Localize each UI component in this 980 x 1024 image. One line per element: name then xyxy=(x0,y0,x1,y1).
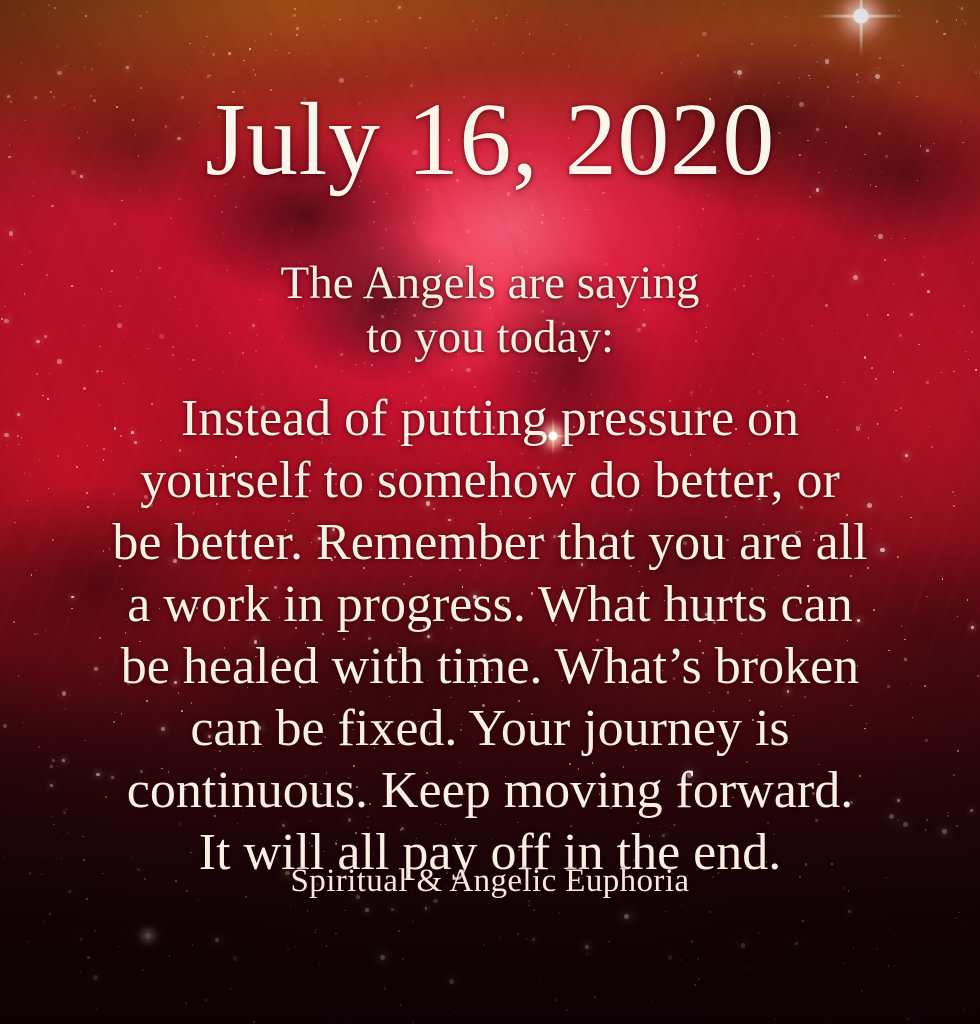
message-body-line: yourself to somehow do better, or xyxy=(0,450,980,512)
lead-text: The Angels are saying to you today: xyxy=(0,256,980,364)
angel-message-card: July 16, 2020 The Angels are saying to y… xyxy=(0,0,980,1024)
message-body-line: Instead of putting pressure on xyxy=(0,388,980,450)
message-content: July 16, 2020 The Angels are saying to y… xyxy=(0,0,980,1024)
message-body: Instead of putting pressure onyourself t… xyxy=(0,388,980,884)
signature-credit: Spiritual & Angelic Euphoria xyxy=(0,862,980,900)
message-body-line: can be fixed. Your journey is xyxy=(0,698,980,760)
page-title: July 16, 2020 xyxy=(0,88,980,192)
lead-line-1: The Angels are saying xyxy=(281,257,700,309)
message-body-line: a work in progress. What hurts can xyxy=(0,574,980,636)
lead-line-2: to you today: xyxy=(366,311,614,363)
message-body-line: be better. Remember that you are all xyxy=(0,512,980,574)
message-body-line: be healed with time. What’s broken xyxy=(0,636,980,698)
message-body-line: continuous. Keep moving forward. xyxy=(0,760,980,822)
